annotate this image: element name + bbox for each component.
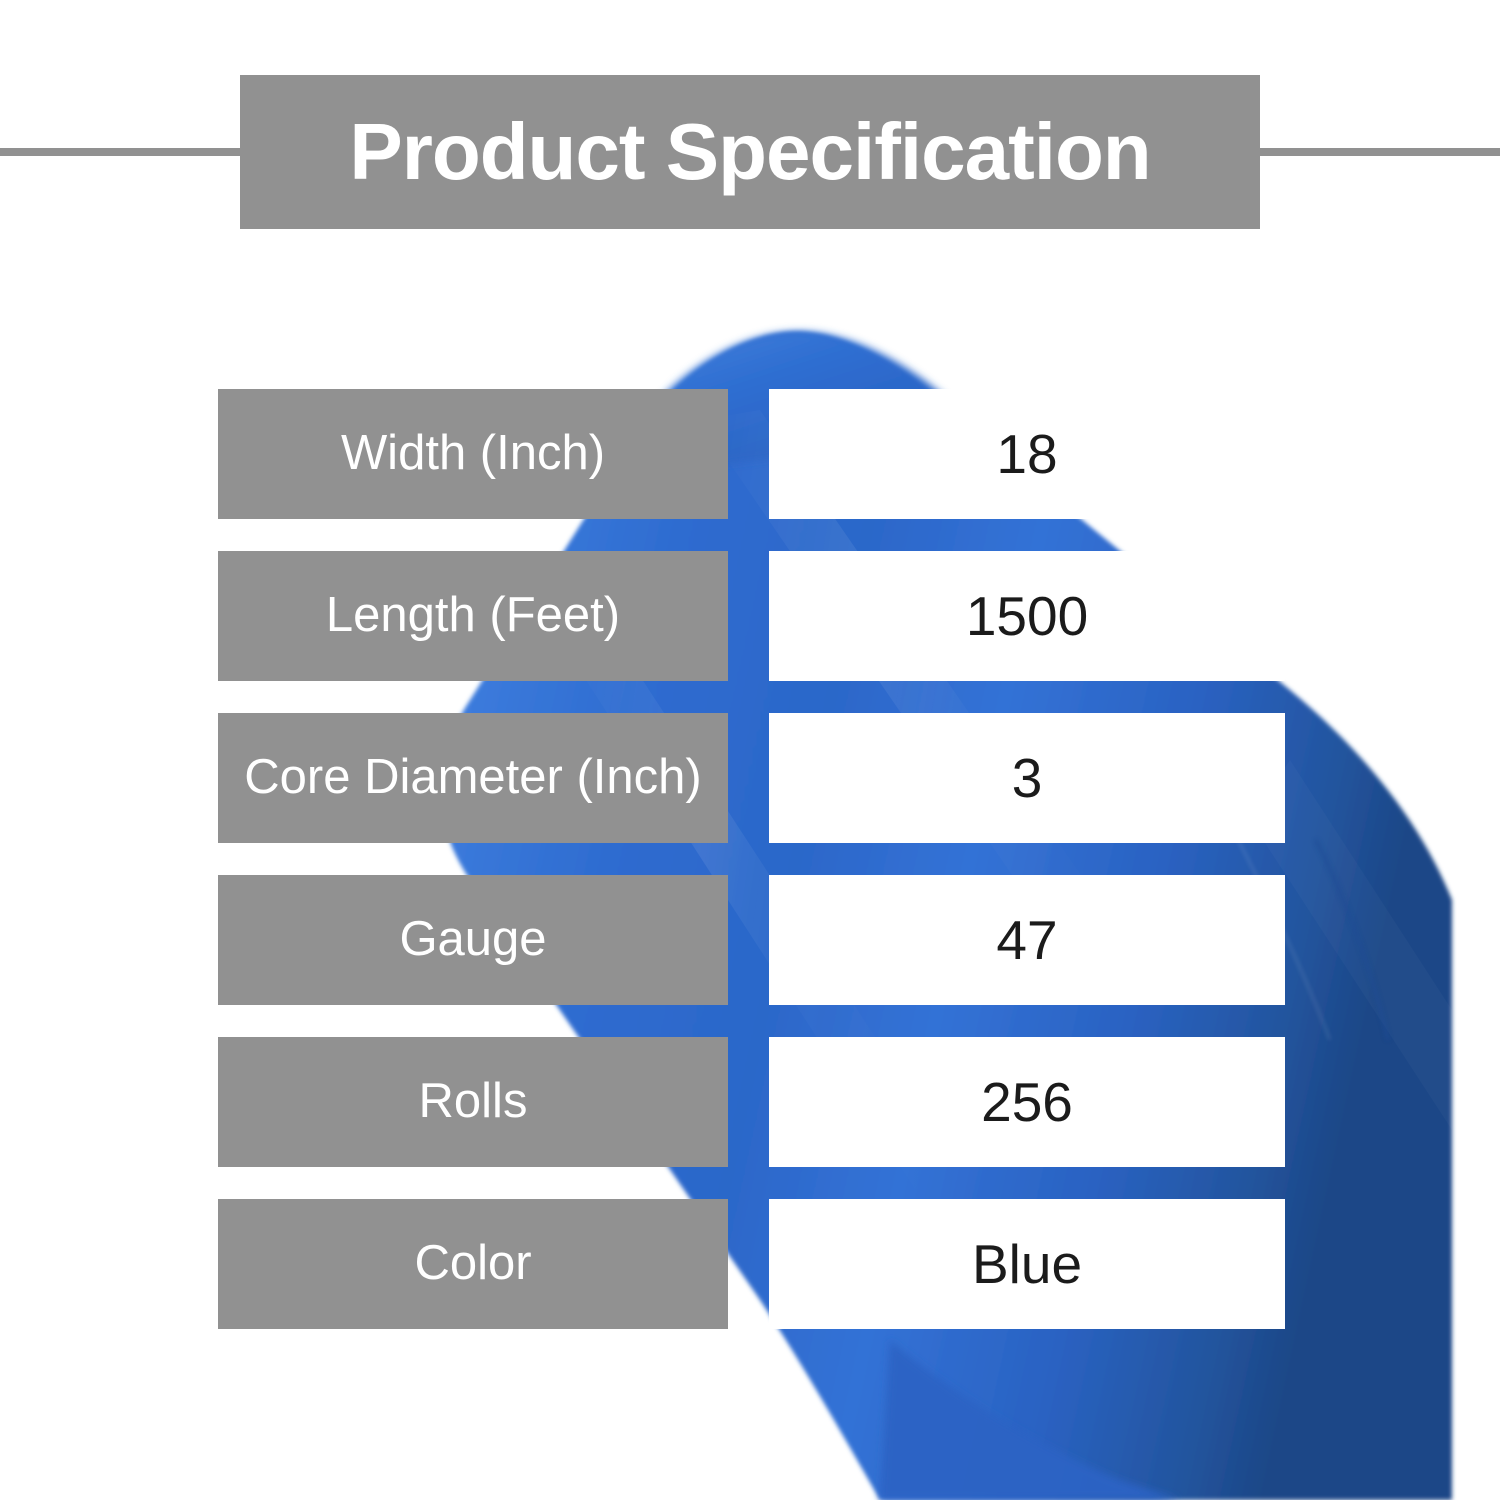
spec-value-text: 3 — [1012, 748, 1043, 809]
spec-label-text: Gauge — [399, 913, 546, 967]
spec-value-length-feet: 1500 — [769, 551, 1285, 681]
specification-table: Width (Inch) 18 Length (Feet) 1500 Core … — [0, 389, 1500, 1361]
title-rule-left — [0, 148, 244, 156]
spec-value-text: 18 — [996, 424, 1057, 485]
spec-value-rolls: 256 — [769, 1037, 1285, 1167]
spec-label-width-inch: Width (Inch) — [218, 389, 728, 519]
spec-label-text: Color — [414, 1237, 531, 1291]
spec-label-text: Width (Inch) — [341, 427, 605, 481]
title-rule-right — [1256, 148, 1500, 156]
spec-label-text: Core Diameter (Inch) — [244, 751, 701, 805]
spec-label-rolls: Rolls — [218, 1037, 728, 1167]
product-specification-page: Product Specification Width (Inch) 18 Le… — [0, 0, 1500, 1500]
table-row: Color Blue — [0, 1199, 1500, 1329]
spec-value-text: 1500 — [966, 586, 1088, 647]
spec-label-gauge: Gauge — [218, 875, 728, 1005]
spec-value-core-diameter-inch: 3 — [769, 713, 1285, 843]
spec-value-text: 256 — [981, 1072, 1073, 1133]
table-row: Rolls 256 — [0, 1037, 1500, 1167]
spec-value-width-inch: 18 — [769, 389, 1285, 519]
spec-value-color: Blue — [769, 1199, 1285, 1329]
spec-label-core-diameter-inch: Core Diameter (Inch) — [218, 713, 728, 843]
page-title-bar: Product Specification — [240, 75, 1260, 229]
spec-label-color: Color — [218, 1199, 728, 1329]
spec-label-text: Rolls — [419, 1075, 528, 1129]
spec-label-text: Length (Feet) — [326, 589, 620, 643]
spec-value-text: Blue — [972, 1234, 1082, 1295]
page-title: Product Specification — [349, 112, 1150, 192]
spec-label-length-feet: Length (Feet) — [218, 551, 728, 681]
spec-value-text: 47 — [996, 910, 1057, 971]
table-row: Gauge 47 — [0, 875, 1500, 1005]
table-row: Length (Feet) 1500 — [0, 551, 1500, 681]
spec-value-gauge: 47 — [769, 875, 1285, 1005]
table-row: Width (Inch) 18 — [0, 389, 1500, 519]
table-row: Core Diameter (Inch) 3 — [0, 713, 1500, 843]
